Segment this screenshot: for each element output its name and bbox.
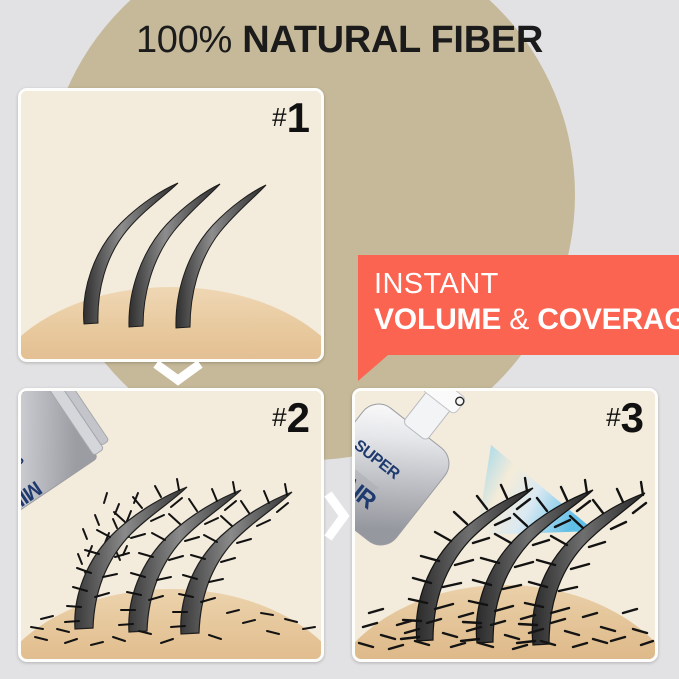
panel-2-hash: # <box>272 402 286 432</box>
panel-1-number: 1 <box>287 94 309 141</box>
arrow-down-icon <box>148 358 208 386</box>
panel-2-number: 2 <box>287 394 309 441</box>
step-panel-2: SUPER MILLION <box>18 388 324 662</box>
step-panel-3: SUPER HAIR <box>352 388 658 662</box>
panel-1-number-badge: #1 <box>272 97 309 139</box>
banner-coverage-word: COVERAGE <box>537 303 679 336</box>
step-panel-1: #1 <box>18 88 324 362</box>
banner-tail <box>358 355 388 381</box>
panel-3-number-badge: #3 <box>606 397 643 439</box>
fiber-carpet-3 <box>359 609 653 649</box>
arrow-right-icon <box>322 486 350 546</box>
panel-2-number-badge: #2 <box>272 397 309 439</box>
panel-3-number: 3 <box>621 394 643 441</box>
banner-text-block: INSTANT VOLUME & COVERAGE <box>374 267 679 338</box>
title-emphasis: NATURAL FIBER <box>242 19 543 61</box>
promo-banner: INSTANT VOLUME & COVERAGE <box>358 255 679 355</box>
fiber-bottle-2: SUPER MILLION <box>18 388 115 540</box>
banner-line-2: VOLUME & COVERAGE <box>374 301 679 338</box>
banner-line-1: INSTANT <box>374 267 679 301</box>
infographic-root: 100% NATURAL FIBER <box>0 0 679 679</box>
title-prefix: 100% <box>136 19 232 61</box>
panel-3-hash: # <box>606 402 620 432</box>
banner-volume-word: VOLUME <box>374 303 501 336</box>
panel-1-hash: # <box>272 102 286 132</box>
attached-fibers-2 <box>65 479 288 627</box>
page-title: 100% NATURAL FIBER <box>0 18 679 62</box>
banner-ampersand: & <box>509 303 529 336</box>
